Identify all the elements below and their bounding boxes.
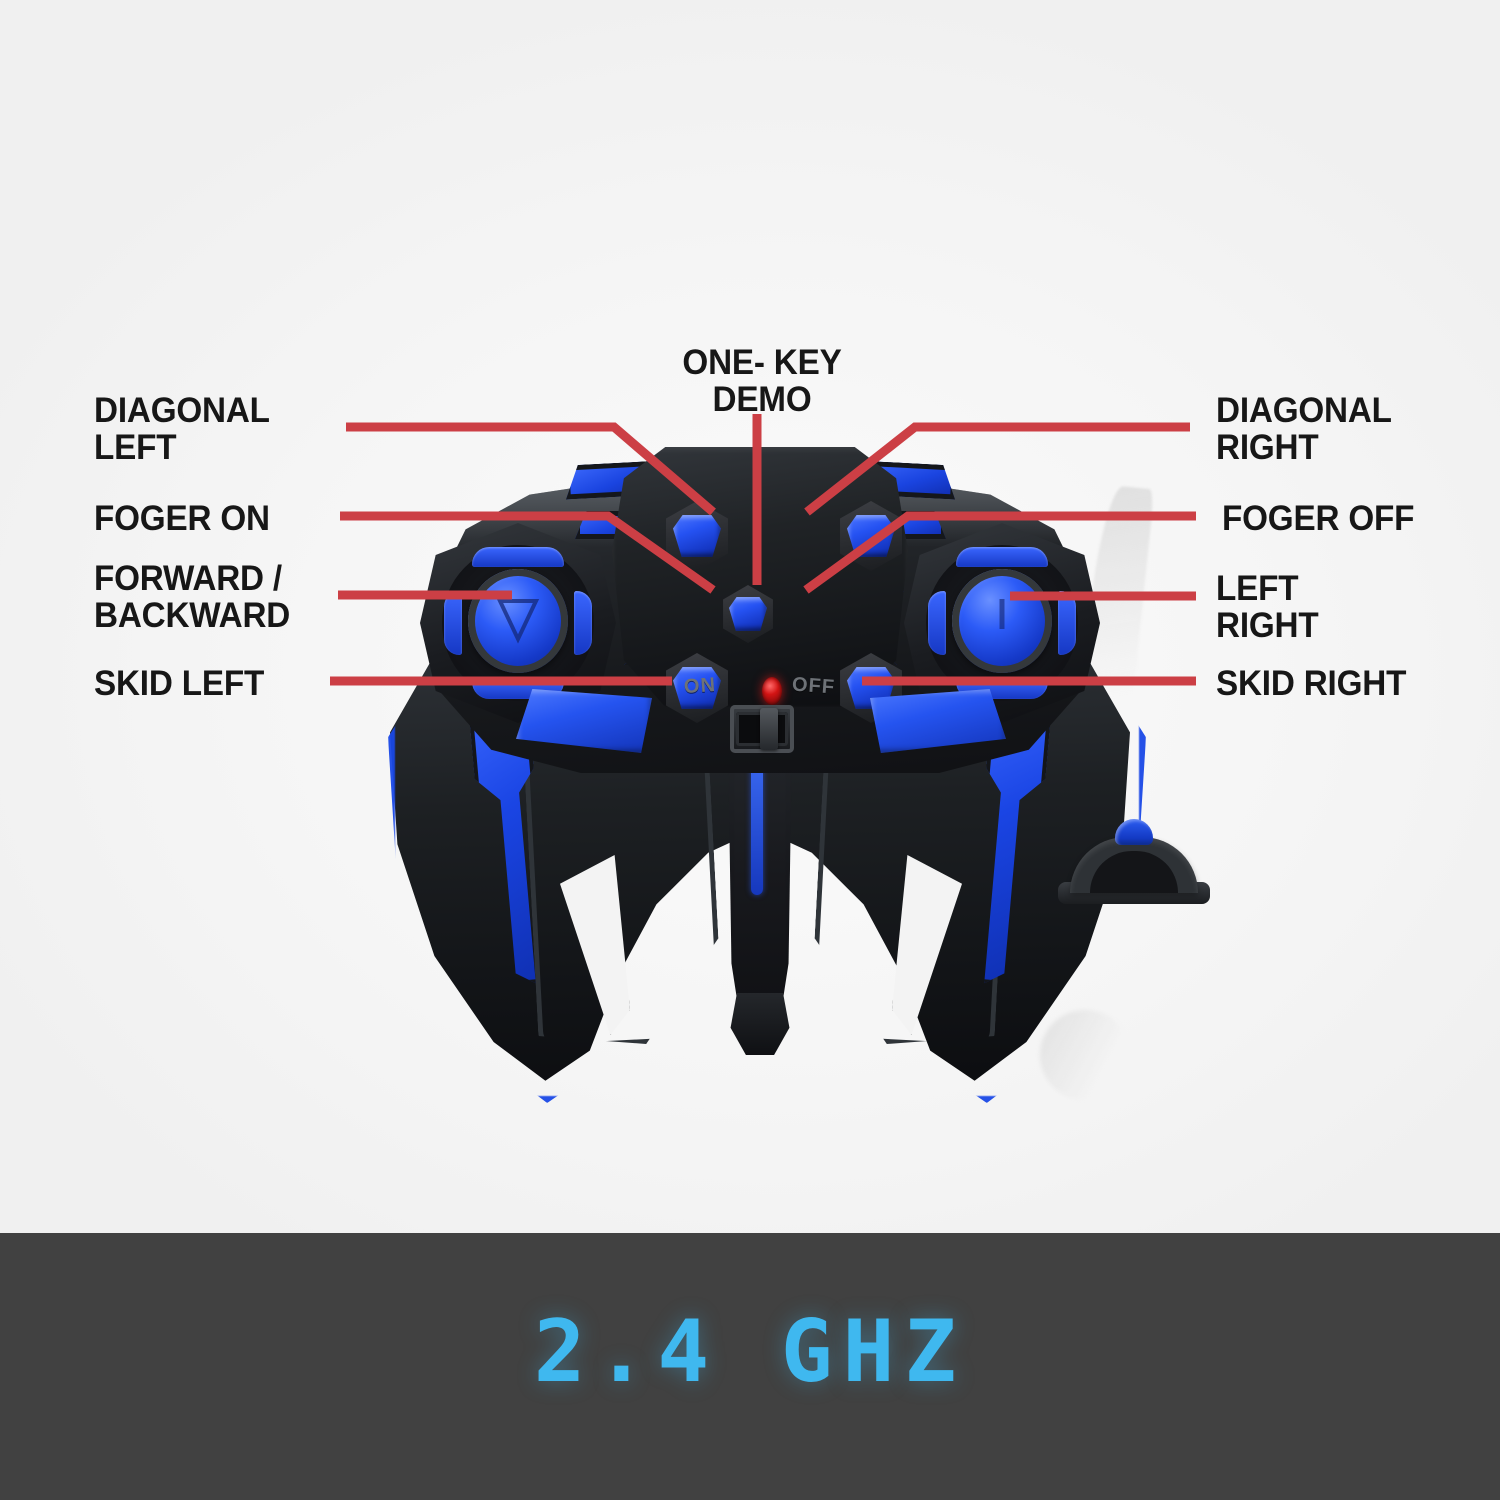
callout-label-skid-left: SKID LEFT [94, 665, 264, 702]
callout-label-foger-off: FOGER OFF [1222, 500, 1414, 537]
frequency-banner-inner: 2.4 GHZ [534, 1302, 966, 1402]
frequency-banner-text: 2.4 GHZ [534, 1302, 966, 1402]
callout-label-forward-backward: FORWARD / BACKWARD [94, 560, 290, 634]
callout-label-left-right: LEFT RIGHT [1216, 570, 1318, 644]
callout-label-diagonal-left: DIAGONAL LEFT [94, 392, 270, 466]
callout-label-foger-on: FOGER ON [94, 500, 270, 537]
screenshot-root: ON OFF [0, 0, 1500, 1500]
leader-foger-off [806, 516, 1196, 590]
leader-foger-on [340, 516, 713, 590]
callout-label-diagonal-right: DIAGONAL RIGHT [1216, 392, 1392, 466]
leader-diagonal-right [807, 427, 1190, 512]
callout-label-skid-right: SKID RIGHT [1216, 665, 1406, 702]
frequency-banner: 2.4 GHZ [0, 1233, 1500, 1500]
leader-diagonal-left [346, 427, 713, 512]
callout-label-one-key-demo: ONE- KEY DEMO [658, 344, 867, 418]
